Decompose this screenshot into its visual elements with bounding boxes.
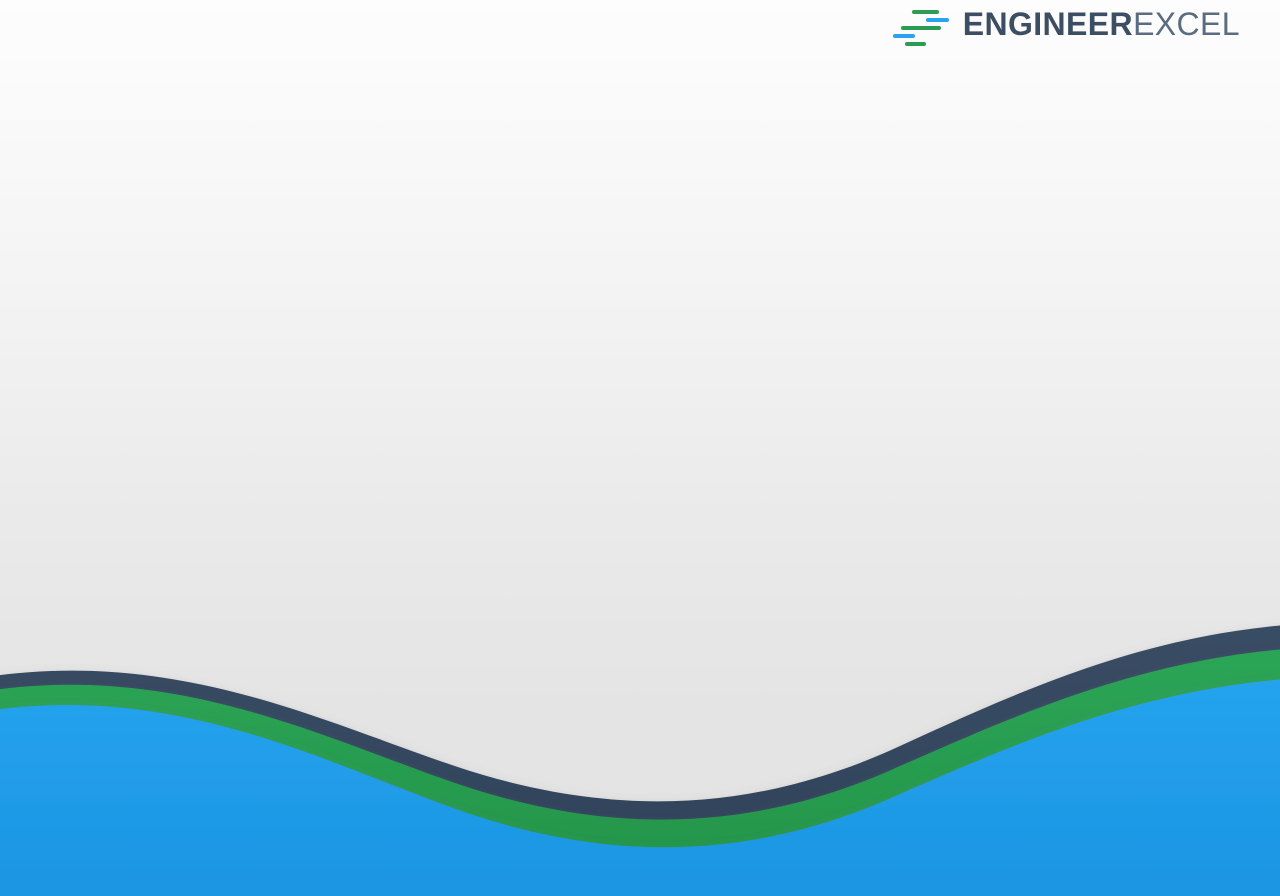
logo-bar-blue-upper bbox=[926, 18, 949, 22]
logo-bar-green-top bbox=[912, 10, 939, 14]
wave-graphic bbox=[0, 596, 1280, 896]
brand-logo[interactable]: ENGINEER EXCEL bbox=[893, 4, 1240, 44]
wave-svg bbox=[0, 596, 1280, 896]
logo-bar-green-bottom bbox=[905, 42, 926, 46]
wordmark-excel: EXCEL bbox=[1133, 8, 1240, 40]
wordmark-engineer: ENGINEER bbox=[963, 8, 1133, 40]
engineerexcel-logo-mark-icon bbox=[893, 4, 949, 44]
slide-content-area bbox=[0, 56, 1280, 636]
brand-wordmark: ENGINEER EXCEL bbox=[963, 8, 1240, 40]
slide-canvas: ENGINEER EXCEL bbox=[0, 0, 1280, 896]
logo-bar-blue-lower bbox=[893, 34, 915, 38]
logo-bar-green-middle bbox=[901, 26, 941, 30]
